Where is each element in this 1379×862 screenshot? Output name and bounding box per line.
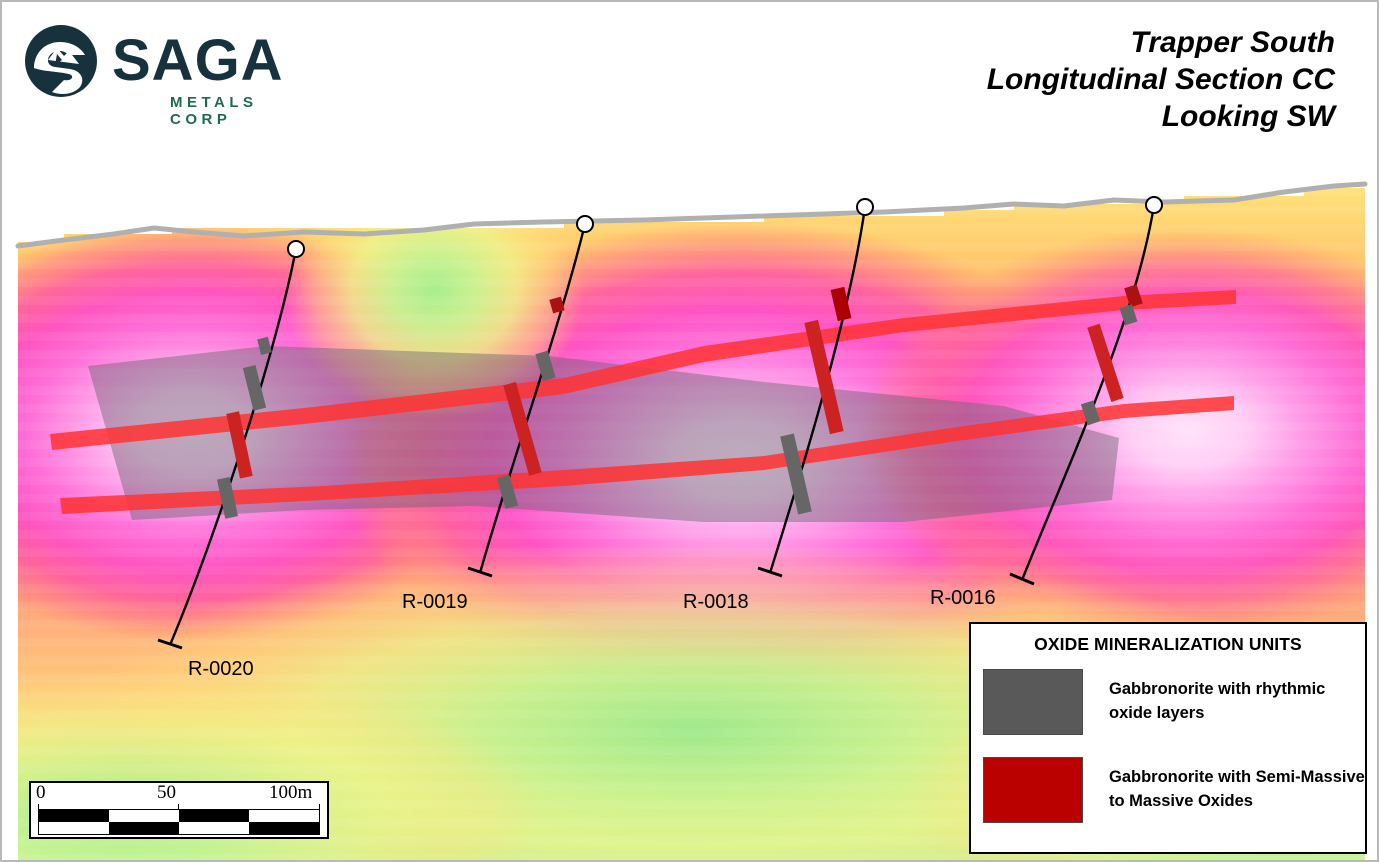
saga-logo: SAGA METALS CORP — [24, 24, 324, 114]
scale-label-50: 50 — [157, 782, 176, 804]
drillhole-label-R-0019: R-0019 — [402, 591, 468, 614]
legend-label-rhythmic-oxide: Gabbronorite with rhythmic oxide layers — [1109, 678, 1365, 726]
scale-bar-row-top — [39, 810, 319, 822]
title-line-3: Looking SW — [987, 98, 1335, 135]
drillhole-label-R-0018: R-0018 — [683, 591, 749, 614]
saga-tagline: METALS CORP — [170, 94, 324, 128]
figure-title: Trapper South Longitudinal Section CC Lo… — [987, 24, 1335, 136]
scale-label-100: 100m — [269, 782, 312, 804]
scale-bar-checker — [38, 809, 320, 835]
legend-item-rhythmic-oxide: Gabbronorite with rhythmic oxide layers — [971, 669, 1365, 735]
scale-bar: 0 50 100m — [29, 781, 329, 839]
legend-title: OXIDE MINERALIZATION UNITS — [971, 634, 1365, 655]
legend-item-massive-oxide: Gabbronorite with Semi-Massive to Massiv… — [971, 757, 1365, 823]
legend-panel: OXIDE MINERALIZATION UNITS Gabbronorite … — [969, 622, 1367, 854]
legend-swatch-rhythmic-oxide — [983, 669, 1083, 735]
scale-bar-row-bottom — [39, 822, 319, 834]
drillhole-label-R-0016: R-0016 — [930, 587, 996, 610]
title-line-1: Trapper South — [987, 24, 1335, 61]
scale-label-0: 0 — [36, 782, 46, 804]
saga-circular-mountain-logo-icon — [24, 24, 98, 98]
title-line-2: Longitudinal Section CC — [987, 61, 1335, 98]
legend-label-massive-oxide: Gabbronorite with Semi-Massive to Massiv… — [1109, 766, 1365, 814]
scale-bar-labels: 0 50 100m — [31, 783, 327, 805]
drillhole-label-R-0020: R-0020 — [188, 658, 254, 681]
legend-swatch-massive-oxide — [983, 757, 1083, 823]
saga-wordmark: SAGA — [112, 32, 284, 90]
figure-root: SAGA METALS CORP Trapper South Longitudi… — [0, 0, 1379, 862]
figure-header: SAGA METALS CORP Trapper South Longitudi… — [2, 2, 1377, 172]
